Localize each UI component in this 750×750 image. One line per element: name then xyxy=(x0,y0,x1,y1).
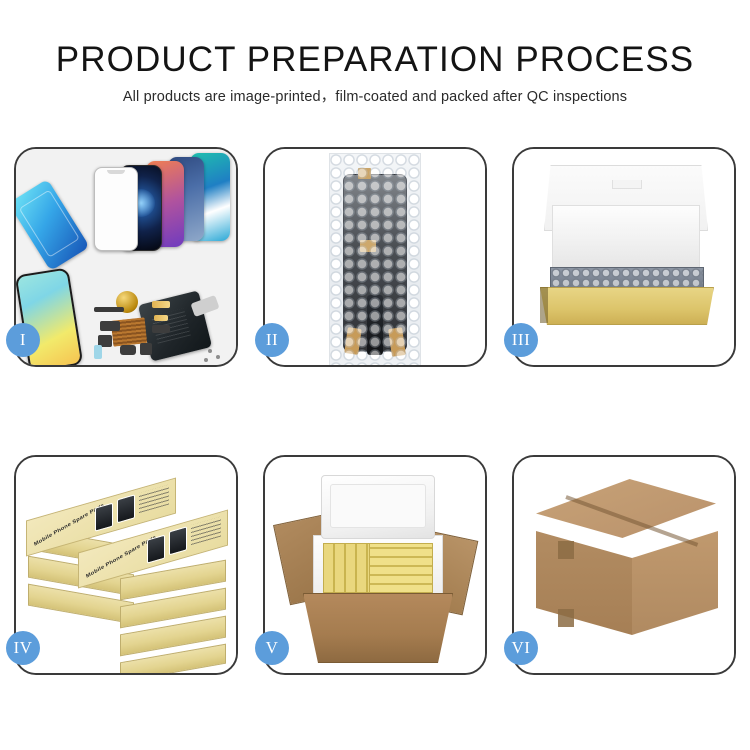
connector-part-a xyxy=(100,321,120,331)
page-subtitle: All products are image-printed，film-coat… xyxy=(0,88,750,106)
kraft-box-base xyxy=(540,287,714,325)
connector-part-c xyxy=(120,345,136,355)
step-card-2[interactable]: II xyxy=(263,147,487,367)
carton-tape-patch-top xyxy=(558,541,574,559)
box-screen-graphic-2a xyxy=(147,535,165,564)
step-badge-3: III xyxy=(504,323,538,357)
screen-flex-cable xyxy=(367,295,383,355)
connector-part-d xyxy=(140,343,152,355)
step-card-1[interactable]: I xyxy=(14,147,238,367)
screw-part-b xyxy=(216,355,220,359)
styrofoam-lid xyxy=(321,475,435,539)
phone-white-display xyxy=(94,167,138,251)
connector-part-e xyxy=(152,325,170,333)
flex-strip-part xyxy=(94,307,124,312)
tape-top xyxy=(358,168,371,179)
step-6-image xyxy=(514,457,734,673)
box-screen-graphic-1b xyxy=(117,494,135,523)
page-header: PRODUCT PREPARATION PROCESS All products… xyxy=(0,0,750,106)
step-card-4[interactable]: Mobile Phone Spare Parts Mobile Phone Sp… xyxy=(14,455,238,675)
white-foam-sheet xyxy=(552,205,700,269)
small-lens-part xyxy=(94,345,102,359)
step-5-image xyxy=(265,457,485,673)
box-stack: Mobile Phone Spare Parts Mobile Phone Sp… xyxy=(24,473,230,663)
carton-body xyxy=(303,593,453,663)
step-badge-2: II xyxy=(255,323,289,357)
gold-flex-part-a xyxy=(152,301,170,308)
carton-tape-patch-bottom xyxy=(558,609,574,627)
step-4-image: Mobile Phone Spare Parts Mobile Phone Sp… xyxy=(16,457,236,673)
page-title: PRODUCT PREPARATION PROCESS xyxy=(0,40,750,80)
step-3-image xyxy=(514,149,734,365)
step-badge-1: I xyxy=(6,323,40,357)
step-badge-6: VI xyxy=(504,631,538,665)
step-card-6[interactable]: VI xyxy=(512,455,736,675)
process-steps-grid: I II xyxy=(14,147,736,675)
yellow-boxes-stack-b xyxy=(369,543,433,593)
bubble-wrap-bag xyxy=(329,153,421,365)
tape-middle xyxy=(360,240,376,252)
box-bullet-list-1 xyxy=(139,485,169,514)
screw-part-c xyxy=(204,358,208,362)
gold-flex-part-b xyxy=(154,315,168,321)
box-screen-graphic-2b xyxy=(169,526,187,555)
box-screen-graphic-1a xyxy=(95,503,113,532)
screw-part-a xyxy=(208,349,212,353)
step-1-image xyxy=(16,149,236,365)
wrapped-phone-screen xyxy=(343,174,407,352)
step-2-image xyxy=(265,149,485,365)
step-card-5[interactable]: V xyxy=(263,455,487,675)
box-lid-tab xyxy=(612,180,642,189)
kraft-box-shadow-edge xyxy=(540,287,548,323)
step-badge-4: IV xyxy=(6,631,40,665)
step-card-3[interactable]: III xyxy=(512,147,736,367)
step-badge-5: V xyxy=(255,631,289,665)
box-bullet-list-2 xyxy=(191,517,221,546)
